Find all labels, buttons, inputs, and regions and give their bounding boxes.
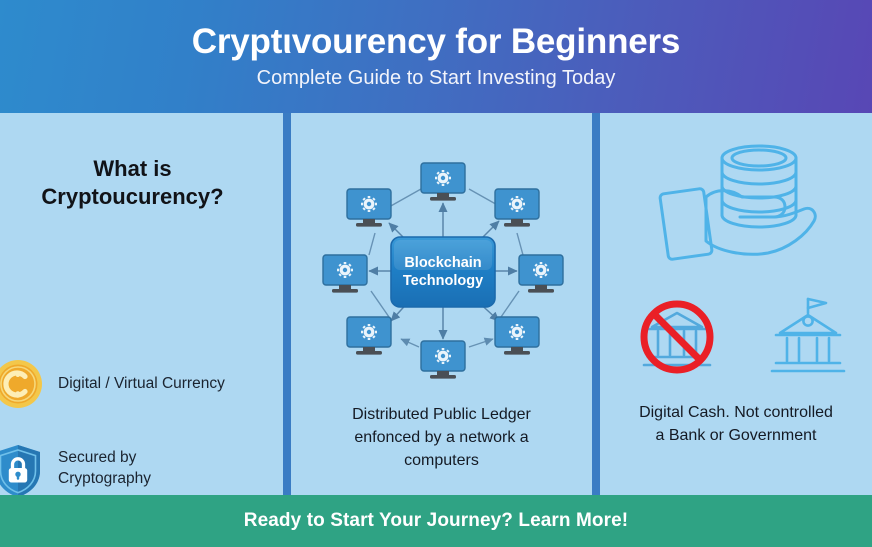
column-divider-right xyxy=(592,113,600,495)
monitor-gear-icon xyxy=(495,189,539,227)
blockchain-network-diagram: Blockchain Technology xyxy=(303,141,583,401)
hand-holding-coins-icon xyxy=(648,129,838,279)
header-banner: Cryptιvourency for Beginners Complete Gu… xyxy=(0,0,872,113)
page-title: Cryptιvourency for Beginners xyxy=(192,24,680,61)
banks-icon-group xyxy=(630,293,860,388)
feature-digital-currency: Digital / Virtual Currency xyxy=(0,358,225,410)
government-building-flag-icon xyxy=(772,299,844,371)
blockchain-caption: Distributed Public Ledger enfonced by a … xyxy=(291,403,592,473)
monitor-gear-icon xyxy=(323,255,367,293)
column-digital-cash: Digital Cash. Not controlled a Bank or G… xyxy=(600,113,872,495)
coin-icon xyxy=(0,358,44,410)
column-divider-left xyxy=(283,113,291,495)
column-what-is-crypto: What is Cryptoucurency? Digital / Virtua… xyxy=(0,113,283,495)
left-column-heading: What is Cryptoucurency? xyxy=(0,155,265,210)
monitor-gear-icon xyxy=(347,189,391,227)
monitor-gear-icon xyxy=(519,255,563,293)
monitor-gear-icon xyxy=(347,317,391,355)
left-heading-line-1: What is xyxy=(0,155,265,183)
feature-label: Secured by Cryptography xyxy=(58,448,151,490)
shield-lock-icon xyxy=(0,443,44,495)
infographic-root: Cryptιvourency for Beginners Complete Gu… xyxy=(0,0,872,547)
content-area: What is Cryptoucurency? Digital / Virtua… xyxy=(0,113,872,495)
monitor-gear-icon xyxy=(421,341,465,379)
footer-cta-banner[interactable]: Ready to Start Your Journey? Learn More! xyxy=(0,495,872,547)
digital-cash-caption: Digital Cash. Not controlled a Bank or G… xyxy=(600,401,872,447)
feature-label: Digital / Virtual Currency xyxy=(58,374,225,395)
monitor-gear-icon xyxy=(495,317,539,355)
monitor-gear-icon xyxy=(421,163,465,201)
feature-secured-by-cryptography: Secured by Cryptography xyxy=(0,443,151,495)
left-heading-line-2: Cryptoucurency? xyxy=(0,183,265,211)
blockchain-center-box xyxy=(391,237,495,307)
footer-cta-text[interactable]: Ready to Start Your Journey? Learn More! xyxy=(244,510,628,532)
bank-prohibited-icon xyxy=(644,304,710,370)
column-blockchain: Blockchain Technology Distributed Public… xyxy=(291,113,592,495)
page-subtitle: Complete Guide to Start Investing Today xyxy=(257,67,616,89)
